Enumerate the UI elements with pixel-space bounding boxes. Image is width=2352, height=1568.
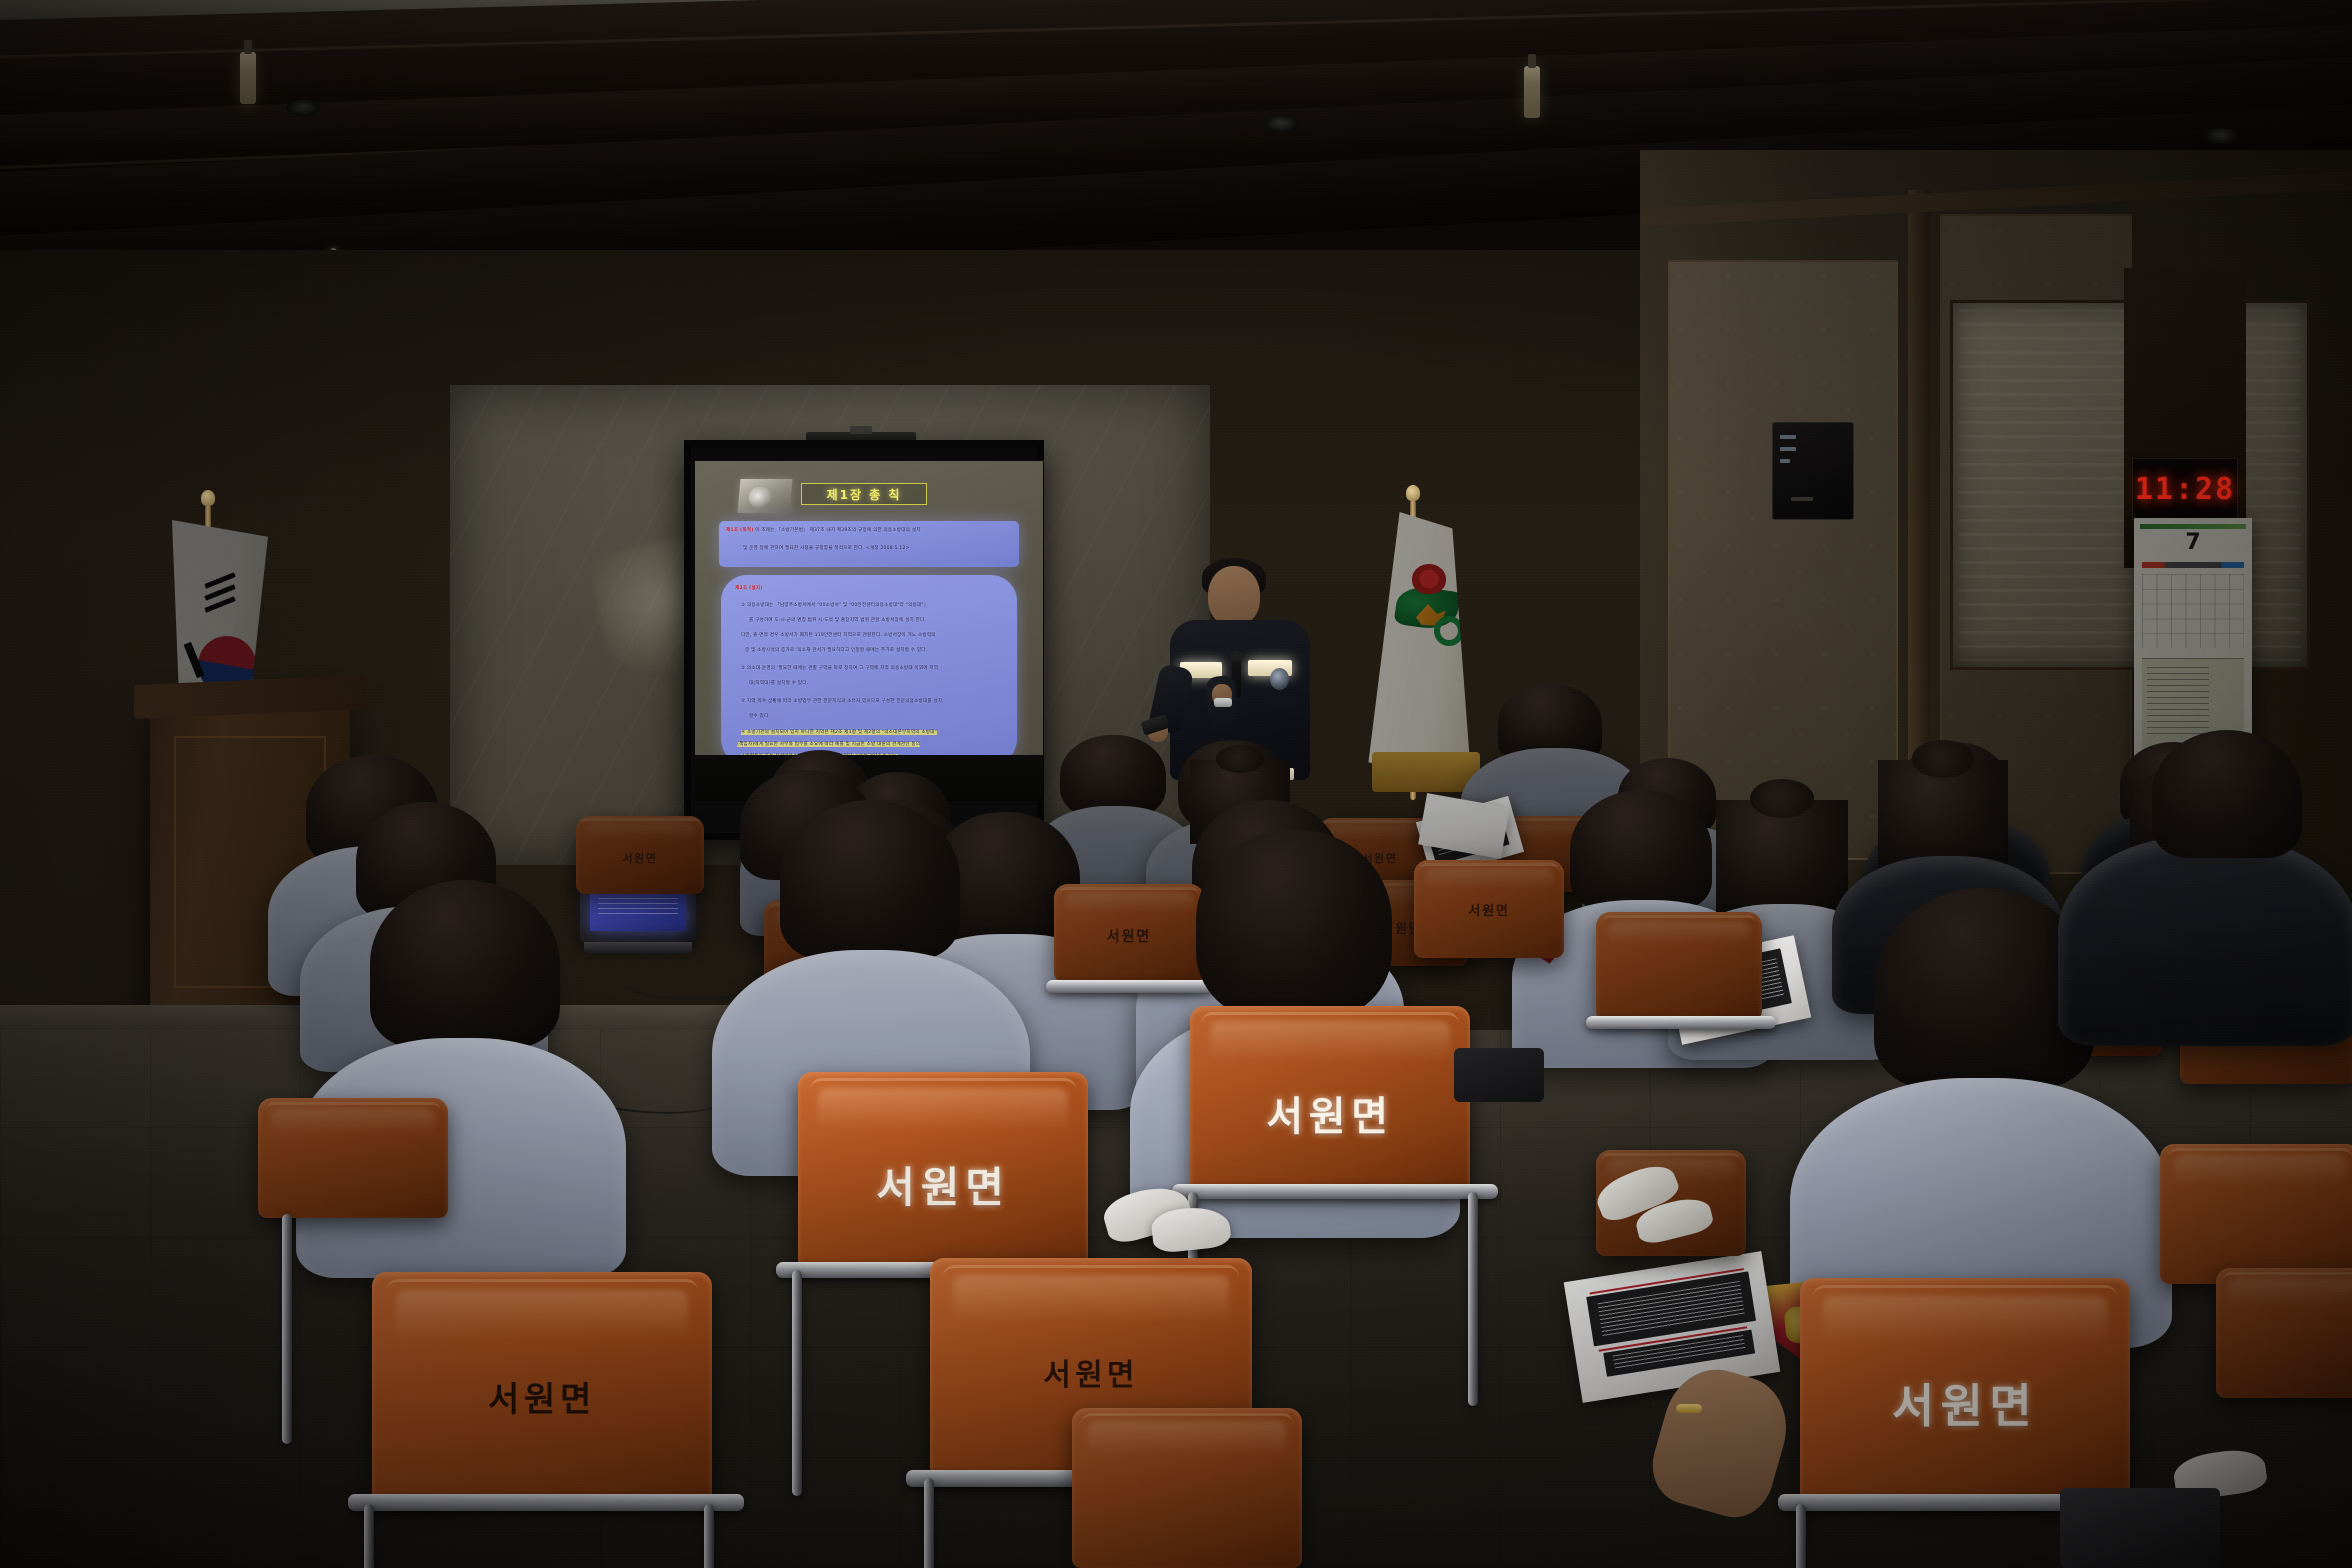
chair-near-5[interactable]: 서원면 [1800, 1278, 2130, 1502]
floor-bag [2060, 1488, 2220, 1568]
chair-back [1414, 860, 1564, 958]
pendant-light-1 [240, 52, 256, 104]
chair-near-2[interactable]: 서원면 [798, 1072, 1088, 1268]
slide-box2-line-1: ① 의용소방대는 「남양주소방서에서 "00소방서" 및 "00안전센터의용소방… [741, 603, 928, 608]
calendar-color-bar [2142, 562, 2244, 568]
chair-lip [2223, 1272, 2352, 1289]
slide-article-box-2: 제2조 (설치) ① 의용소방대는 「남양주소방서에서 "00소방서" 및 "0… [721, 575, 1017, 765]
attendee-far-1 [1060, 735, 1166, 795]
calendar-top-band [2140, 524, 2246, 529]
slide-box2-line-2: 를 구성하여 도·시·군의 명칭 범위 시·도적 및 출장지역 범위 관할 소방… [749, 618, 926, 623]
chair-lip [1602, 1153, 1740, 1167]
chair-lip [943, 1265, 1239, 1293]
chair-near-8[interactable] [1072, 1408, 1302, 1568]
downlight-3 [2204, 128, 2238, 144]
attendee-hair [370, 880, 560, 1048]
digital-clock: 11:28 [2132, 458, 2238, 520]
slide-box2-line-8: 할수 있다. [749, 714, 770, 719]
attendee-near-left [370, 880, 560, 990]
slide-logo-icon [738, 479, 793, 513]
attendee-far-3 [1498, 684, 1602, 742]
chair-lip [386, 1279, 699, 1309]
chair-lip [581, 818, 699, 828]
slide-box2-header: 제2조 (설치) [735, 586, 763, 591]
chair-back [2216, 1268, 2352, 1398]
attendee-near-center [1196, 830, 1392, 942]
chair-leg [282, 1214, 292, 1444]
slide-box1-line-2: 및 운영 등에 관하여 필요한 사항을 규정함을 목적으로 한다. <개정 20… [743, 546, 910, 551]
chair-leg-left [364, 1504, 374, 1568]
panel-led-2 [1780, 447, 1796, 451]
clock-time-display: 11:28 [2135, 472, 2235, 507]
chair-near-3[interactable]: 서원면 [1190, 1006, 1470, 1192]
chair-back [1072, 1408, 1302, 1568]
chair-back [1596, 912, 1762, 1020]
calendar-date-grid [2142, 574, 2244, 648]
chair-leg-right [704, 1504, 714, 1568]
chair-rail [1172, 1184, 1498, 1199]
downlight-1 [286, 100, 320, 116]
chair-back [1054, 884, 1204, 982]
attendee-near-center-left [780, 800, 960, 904]
slide-article-box-1: 제1조 (목적) 이 조례는 「소방기본법」 제37조 내지 제39조의 규정에… [719, 521, 1019, 567]
chair-lip [1201, 1012, 1459, 1036]
slide-box2-line-3: 다만, 출·면적 경우 소방서가 폐지된 119안전센터 지역으로 관할한다. … [741, 633, 936, 638]
panel-led-1 [1780, 435, 1796, 439]
calendar-month-number: 7 [2134, 530, 2252, 555]
chair-lip [1081, 1413, 1293, 1434]
chair-back [1190, 1006, 1470, 1192]
chair-mid-2[interactable]: 서원면 [1414, 860, 1564, 958]
auditorium-scene: 11:28 7 제1장 총 칙 제1조 (목적) 이 조례는 「소방기본법」 제… [0, 0, 2352, 1568]
chair-near-1[interactable]: 서원면 [372, 1272, 712, 1502]
chair-back [2160, 1144, 2352, 1284]
attendee-mid-right-2 [1716, 800, 1848, 876]
panel-led-4 [1791, 497, 1813, 501]
attendee-mid-right-1 [1570, 790, 1712, 872]
chair-leg-left [792, 1270, 802, 1496]
attendee-hair [1716, 800, 1848, 914]
slide-box2-line-4: 증 및 소방시설의 증거로 '의소재 관서가 필요하다고 인정할 때에는 추가로… [745, 648, 927, 653]
slide-box2-line-10: (책임자)에게 필요한 사무와 업무를 소요에 따라 예를 및 지급한 소방 대… [737, 742, 920, 747]
emblem-flower [1412, 564, 1446, 594]
chair-far-1[interactable]: 서원면 [576, 816, 704, 894]
chair-lip [2168, 1148, 2352, 1166]
chair-rail [1586, 1016, 1776, 1029]
chair-back [372, 1272, 712, 1502]
chair-mid-1[interactable]: 서원면 [1054, 884, 1204, 982]
chair-lip [1813, 1285, 2117, 1314]
attendee-edge-right-shoulders [2058, 836, 2352, 1046]
chair-rail [1046, 980, 1214, 993]
floor-bag-2 [1454, 1048, 1544, 1102]
presenter-arm-badge [1270, 668, 1289, 690]
chair-lip [266, 1102, 441, 1118]
chair-leg-right [1468, 1192, 1478, 1406]
slide-box2-line-5: ② 의소대 운영의 '필요한 때에는 관할 구역을 따로 정하여 그 구역에 지… [741, 666, 938, 671]
laptop-base [584, 942, 692, 954]
presenter-wristwatch [1214, 698, 1232, 707]
attendee-hair [1570, 790, 1712, 910]
chair-near-6[interactable] [2160, 1144, 2352, 1284]
slide-title: 제1장 총 칙 [801, 483, 927, 505]
attendee-edge-right [2152, 730, 2302, 816]
attendee-hair [2152, 730, 2302, 858]
attendee-hair [780, 800, 960, 960]
pendant-light-2 [1524, 66, 1540, 118]
chair-near-0[interactable] [258, 1098, 448, 1218]
chair-mid-3[interactable] [1596, 912, 1762, 1020]
chair-back [1800, 1278, 2130, 1502]
chair-back [576, 816, 704, 894]
wall-control-panel[interactable] [1772, 422, 1854, 520]
attendee-hair [1196, 830, 1392, 1020]
attendee-mid-left-2 [356, 802, 496, 882]
chair-lip [1420, 863, 1558, 876]
slide-box2-line-6: 대(지역대)를 설치할 수 있다. [749, 681, 808, 686]
chair-lip [1060, 887, 1198, 900]
attendee-mid-right-3 [1878, 760, 2008, 836]
panel-led-3 [1780, 459, 1790, 463]
slide-box1-line-1: 이 조례는 「소방기본법」 제37조 내지 제39조의 규정에 의한 의용소방대… [755, 528, 920, 533]
presentation-slide: 제1장 총 칙 제1조 (목적) 이 조례는 「소방기본법」 제37조 내지 제… [705, 473, 1033, 791]
chair-leg-left [924, 1478, 934, 1568]
attendee-bracelet [1676, 1404, 1702, 1413]
slide-box1-header: 제1조 (목적) [726, 528, 754, 533]
chair-rail [348, 1494, 744, 1511]
downlight-2 [1264, 116, 1298, 132]
slide-box2-line-9: ④ 소방기관의 설치되어 있지 아니한 지역은 제2조 제1항 및 제2항의 "… [741, 730, 937, 735]
chair-lip [810, 1078, 1077, 1103]
chair-near-9[interactable] [2216, 1268, 2352, 1398]
presenter-head [1208, 566, 1260, 626]
chair-back [258, 1098, 448, 1218]
slide-box2-line-7: ③ 지역 적수 상황에 따라 소방업무 관한 전문지식과 소유자 있으므로 구성… [741, 699, 942, 704]
chair-lip [1603, 915, 1756, 929]
chair-leg-left [1796, 1504, 1806, 1568]
chair-back [798, 1072, 1088, 1268]
